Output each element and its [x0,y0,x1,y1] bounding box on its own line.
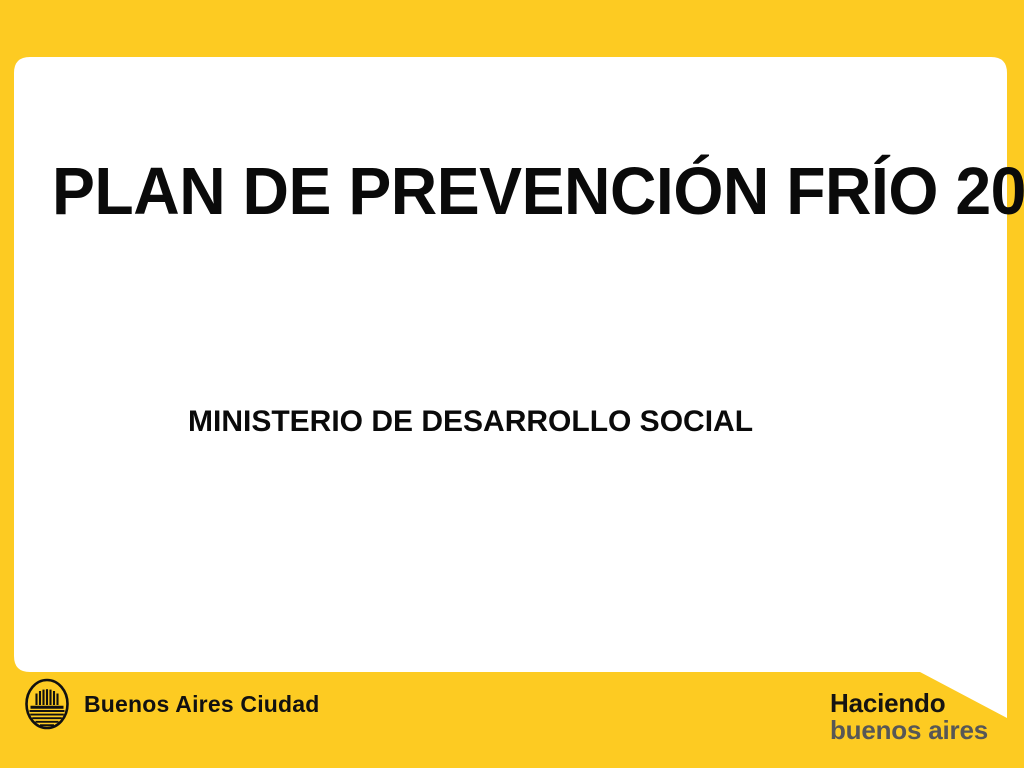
slide-content-card [14,57,1007,719]
card-shape [14,57,1007,719]
slogan-line-haciendo: Haciendo [830,690,988,717]
presentation-slide: PLAN DE PREVENCIÓN FRÍO 2011 MINISTERIO … [0,0,1024,768]
buenos-aires-city-shield-icon [24,678,70,730]
slogan-line-buenos-aires: buenos aires [830,717,988,744]
brand-wordmark: Buenos Aires Ciudad [84,691,320,718]
brand-lockup: Buenos Aires Ciudad [24,678,320,730]
slogan-lockup: Haciendo buenos aires [830,690,988,744]
